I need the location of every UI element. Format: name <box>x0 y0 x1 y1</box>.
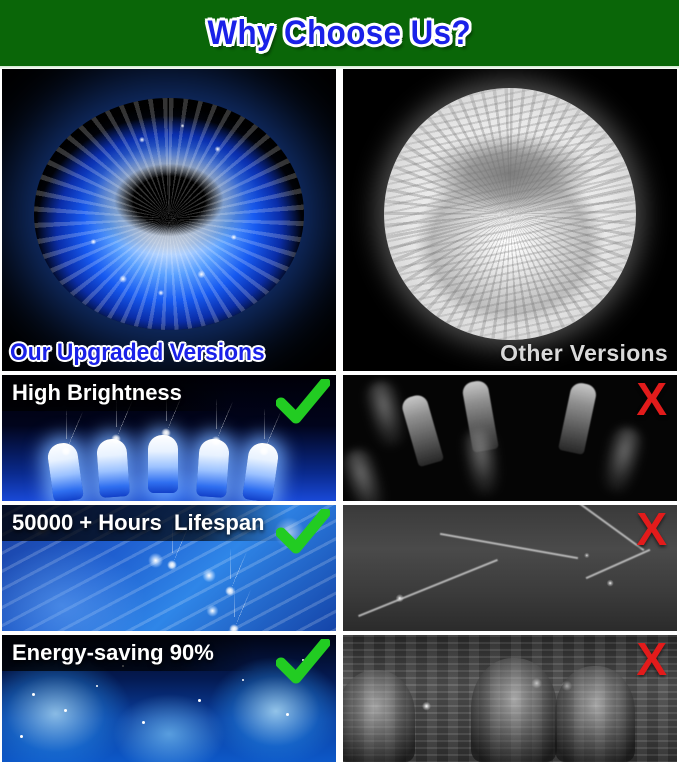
image-grey-lit-house <box>343 635 677 762</box>
comparison-grid: Our Upgraded Versions Other Versions <box>0 69 679 762</box>
image-white-coil <box>343 69 677 371</box>
cross-mark-icon: X <box>636 377 667 421</box>
cross-mark-icon: X <box>636 637 667 681</box>
cross-mark-icon: X <box>636 507 667 551</box>
cell-ours-row-4: Energy-saving 90% <box>2 635 336 762</box>
image-faint-wire <box>343 505 677 631</box>
comparison-row-3: 50000 + Hours Lifespan X <box>0 505 679 631</box>
ours-label: Our Upgraded Versions <box>10 339 265 367</box>
check-mark-icon <box>276 379 330 425</box>
why-choose-us-infographic: Why Choose Us? Our Upgraded Versions Oth… <box>0 0 679 762</box>
vertical-divider-row-2 <box>336 375 343 501</box>
comparison-row-2: High Brightness X <box>0 375 679 501</box>
image-blue-coil <box>2 69 336 371</box>
image-dim-bulbs <box>343 375 677 501</box>
feature-band-energy-saving: Energy-saving 90% <box>2 635 256 671</box>
comparison-row-1: Our Upgraded Versions Other Versions <box>0 69 679 371</box>
cell-others-row-1: Other Versions <box>343 69 677 371</box>
cell-others-row-2: X <box>343 375 677 501</box>
feature-label: Energy-saving 90% <box>12 640 214 666</box>
header-banner: Why Choose Us? <box>0 0 679 66</box>
vertical-divider-row-1 <box>336 69 343 371</box>
feature-band-high-brightness: High Brightness <box>2 375 234 411</box>
vertical-divider-row-3 <box>336 505 343 631</box>
feature-label: High Brightness <box>12 380 182 406</box>
blue-coil-shape <box>34 98 304 330</box>
check-mark-icon <box>276 509 330 555</box>
cell-ours-row-2: High Brightness <box>2 375 336 501</box>
page-title: Why Choose Us? <box>208 14 472 53</box>
white-coil-shape <box>384 88 636 340</box>
vertical-divider-row-4 <box>336 635 343 762</box>
cell-ours-row-1: Our Upgraded Versions <box>2 69 336 371</box>
comparison-row-4: Energy-saving 90% X <box>0 635 679 762</box>
cell-ours-row-3: 50000 + Hours Lifespan <box>2 505 336 631</box>
feature-band-lifespan: 50000 + Hours Lifespan <box>2 505 288 541</box>
check-mark-icon <box>276 639 330 685</box>
feature-label: 50000 + Hours Lifespan <box>12 510 265 536</box>
cell-others-row-3: X <box>343 505 677 631</box>
others-label: Other Versions <box>500 340 668 367</box>
cell-others-row-4: X <box>343 635 677 762</box>
